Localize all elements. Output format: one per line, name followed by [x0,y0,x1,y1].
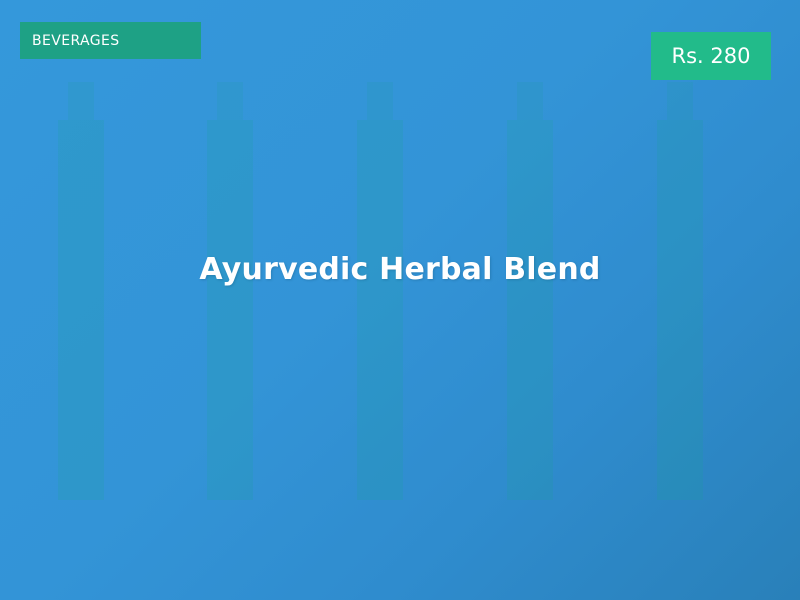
bottle-icon [58,82,104,500]
bottle-icon [507,82,553,500]
product-title: Ayurvedic Herbal Blend [0,249,800,291]
price-badge[interactable]: Rs. 280 [651,32,771,80]
bottle-icon [657,82,703,500]
bottle-body [507,120,553,500]
bottle-body [58,120,104,500]
bottle-neck [367,82,393,120]
bottle-neck [517,82,543,120]
category-badge[interactable]: BEVERAGES [20,22,201,59]
bottle-icon [207,82,253,500]
bottle-body [207,120,253,500]
bottle-neck [68,82,94,120]
bottle-icon [357,82,403,500]
bottle-pattern-decoration [0,0,800,600]
price-badge-label: Rs. 280 [672,46,751,67]
bottle-body [657,120,703,500]
category-badge-label: BEVERAGES [32,34,120,48]
bottle-neck [667,82,693,120]
product-card: BEVERAGES Rs. 280 Ayurvedic Herbal Blend [0,0,800,600]
bottle-neck [217,82,243,120]
bottle-body [357,120,403,500]
